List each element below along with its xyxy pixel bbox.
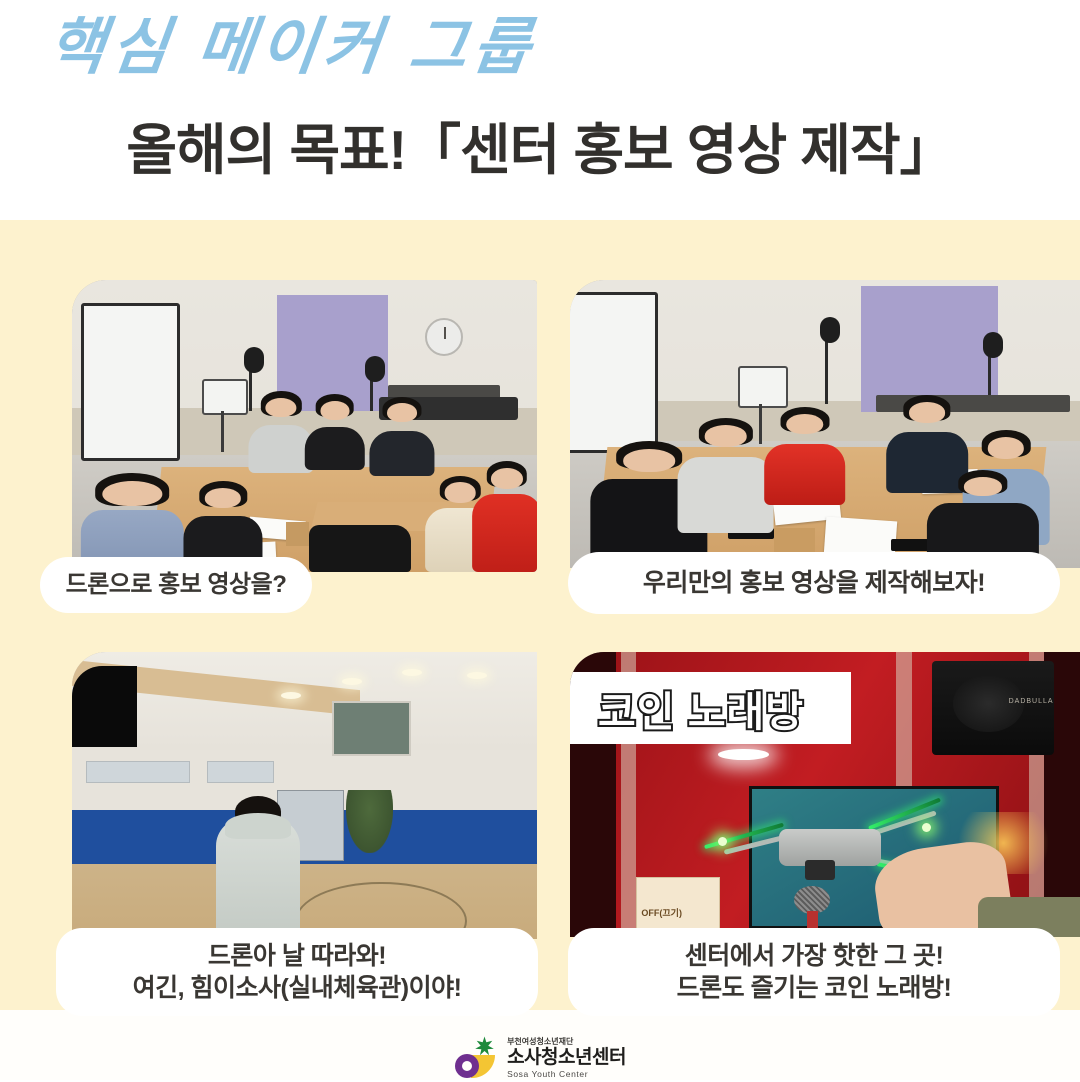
caption-text: 우리만의 홍보 영상을 제작해보자! <box>643 567 985 599</box>
coat-hood <box>225 813 290 839</box>
wall-window-strip <box>207 761 274 783</box>
led-light-panel <box>738 366 788 407</box>
caption-pill-photo-1: 드론으로 홍보 영상을? <box>40 557 312 613</box>
caption-pill-photo-2: 우리만의 홍보 영상을 제작해보자! <box>568 552 1060 614</box>
page-title: 올해의 목표!「센터 홍보 영상 제작」 <box>0 105 1080 185</box>
student-jacket <box>305 427 365 470</box>
student-head <box>988 437 1024 459</box>
logo-center-name-en: Sosa Youth Center <box>507 1070 626 1079</box>
student-head <box>205 488 241 508</box>
student-figure <box>677 418 774 533</box>
backpack <box>309 525 411 572</box>
photo-meeting-wide <box>72 280 537 572</box>
led-light-panel <box>202 379 248 415</box>
microphone-icon <box>983 332 1003 358</box>
wall-window-strip <box>86 761 190 783</box>
logo-ring-shape <box>455 1054 479 1078</box>
student-head <box>320 401 349 420</box>
student-head <box>623 449 675 472</box>
student-head <box>491 468 523 489</box>
caption-pill-photo-4: 센터에서 가장 핫한 그 곳! 드론도 즐기는 코인 노래방! <box>568 928 1060 1016</box>
caption-text-line-2: 여긴, 힘이소사(실내체육관)이야! <box>133 972 462 1004</box>
logo-center-name: 소사청소년센터 <box>507 1048 626 1067</box>
student-head <box>909 402 945 423</box>
logo-star-icon <box>474 1036 495 1057</box>
pen-holder <box>286 522 309 545</box>
caption-pill-photo-3: 드론아 날 따라와! 여긴, 힘이소사(실내체육관)이야! <box>56 928 538 1016</box>
sosa-youth-center-logo-icon <box>454 1037 498 1079</box>
mic-head <box>794 886 830 914</box>
photo-meeting-close <box>570 280 1080 568</box>
footer-logo: 부천여성청소년재단 소사청소년센터 Sosa Youth Center <box>0 1034 1080 1082</box>
purple-blind <box>861 286 999 413</box>
whiteboard <box>81 303 180 461</box>
student-sweatshirt <box>677 457 774 533</box>
logo-foundation-name: 부천여성청소년재단 <box>507 1038 626 1046</box>
drone-camera-gimbal <box>805 860 836 880</box>
light-stand <box>221 411 224 452</box>
microphone-icon <box>820 317 840 343</box>
caption-text-line-1: 센터에서 가장 핫한 그 곳! <box>677 940 952 972</box>
caption-text-line-2: 드론도 즐기는 코인 노래방! <box>677 972 952 1004</box>
upper-glass-window <box>332 701 410 757</box>
student-figure <box>305 394 365 470</box>
student-red-jacket <box>764 444 846 505</box>
student-figure <box>472 461 537 572</box>
photo-gymnasium <box>72 652 537 939</box>
student-head <box>704 425 747 447</box>
drone-led-light <box>922 823 931 832</box>
caption-text-line-1: 드론아 날 따라와! <box>133 940 462 972</box>
speaker-brand-label: DADBULLA <box>1009 698 1054 705</box>
whiteboard <box>570 292 658 454</box>
student-head <box>786 414 824 435</box>
card-header: 핵심 메이커 그룹 올해의 목표!「센터 홍보 영상 제작」 <box>0 0 1080 220</box>
photo-coin-karaoke: DADBULLA OFF(끄기) 코인 노래방 <box>570 652 1080 937</box>
photo-overlay-label: 코인 노래방 <box>570 672 851 744</box>
student-head <box>387 403 417 422</box>
logo-text-block: 부천여성청소년재단 소사청소년센터 Sosa Youth Center <box>507 1038 626 1079</box>
hanging-display-screen <box>72 666 137 746</box>
student-head <box>964 477 1002 496</box>
decorative-plant <box>346 790 393 853</box>
ceiling-light-icon <box>342 678 362 685</box>
poster-text: OFF(끄기) <box>641 906 682 919</box>
microphone-icon <box>365 356 385 382</box>
student-figure <box>764 407 846 505</box>
student-jacket <box>370 431 435 476</box>
student-red-jacket <box>472 494 537 572</box>
kicker-title: 핵심 메이커 그룹 <box>44 14 540 82</box>
photo-overlay-label-text: 코인 노래방 <box>598 678 804 738</box>
student-figure <box>370 397 435 476</box>
caption-text: 드론으로 홍보 영상을? <box>66 570 287 601</box>
microphone-icon <box>244 347 264 373</box>
student-head <box>266 398 297 418</box>
student-head <box>103 481 162 507</box>
promo-card: 핵심 메이커 그룹 올해의 목표!「센터 홍보 영상 제작」 <box>0 0 1080 1080</box>
